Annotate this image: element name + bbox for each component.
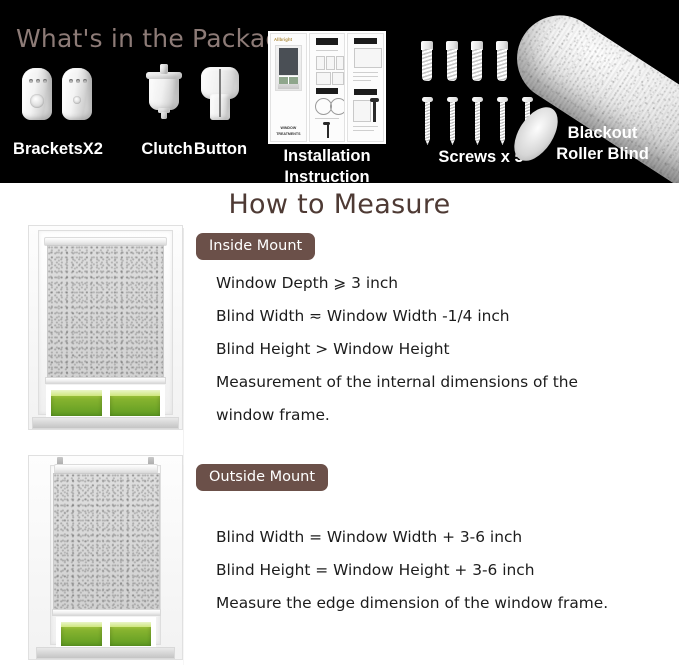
instruction-label-line1: Installation — [283, 147, 370, 165]
instruction-label: Installation Instruction — [262, 146, 392, 183]
brackets-label: BracketsX2 — [0, 140, 116, 159]
instruction-label-line2: Instruction — [284, 168, 369, 183]
clutch-icon — [149, 74, 179, 110]
window-pane — [49, 388, 104, 418]
outside-mount-window-illustration — [28, 455, 183, 660]
package-contents-panel: What's in the Package BracketsX2 — [0, 0, 679, 183]
window-sill — [32, 417, 179, 429]
inside-mount-spec-line: Blind Height > Window Height — [216, 340, 450, 358]
wall-anchor-icon — [421, 41, 433, 81]
screw-icon — [472, 97, 483, 145]
window-glass — [46, 385, 165, 421]
blind-fabric — [47, 245, 164, 379]
leaflet-panel-3 — [347, 33, 384, 142]
wall-anchor-icon — [446, 41, 458, 81]
inside-mount-window-illustration — [28, 225, 183, 430]
window-pane — [59, 620, 104, 648]
leaflet-panel-2 — [309, 33, 346, 142]
how-to-measure-title: How to Measure — [0, 189, 679, 220]
leaflet-panel-1: Allbright WINDOW TREATMENTS — [270, 33, 307, 142]
outside-mount-spec-line: Blind Width = Window Width + 3-6 inch — [216, 528, 522, 546]
window-glass — [56, 617, 156, 651]
leaflet-footer: WINDOW TREATMENTS — [271, 126, 306, 137]
blind-bottom-rail — [45, 377, 166, 384]
leaflet-footer-line1: WINDOW — [280, 126, 296, 130]
button-label: Button — [178, 140, 263, 159]
screw-icon — [422, 97, 433, 145]
leaflet-footer-line2: TREATMENTS — [276, 132, 300, 136]
window-pane — [108, 620, 153, 648]
screw-icon — [447, 97, 458, 145]
package-title: What's in the Package — [16, 24, 297, 53]
bracket-icon — [22, 68, 52, 120]
blind-bottom-rail — [52, 609, 161, 616]
inside-mount-spec-line: window frame. — [216, 406, 330, 424]
leaflet-heading-bar — [316, 38, 339, 45]
clutch-icon — [161, 112, 167, 119]
inside-mount-spec-line: Measurement of the internal dimensions o… — [216, 373, 578, 391]
instruction-leaflet-icon: Allbright WINDOW TREATMENTS — [268, 31, 386, 144]
outside-mount-spec-line: Measure the edge dimension of the window… — [216, 594, 608, 612]
section-divider — [183, 228, 184, 488]
bracket-icon — [62, 68, 92, 120]
section-divider — [183, 465, 184, 665]
inside-mount-spec-line: Blind Width ≂ Window Width -1/4 inch — [216, 307, 510, 325]
clutch-icon — [160, 64, 168, 74]
product-infographic: What's in the Package BracketsX2 — [0, 0, 679, 667]
inside-mount-badge: Inside Mount — [196, 233, 315, 260]
button-slot-icon — [219, 69, 221, 117]
outside-mount-spec-line: Blind Height = Window Height + 3-6 inch — [216, 561, 535, 579]
outside-mount-badge: Outside Mount — [196, 464, 328, 491]
rolled-blind-label-line1: Blackout — [568, 124, 638, 142]
rolled-blind-label-line2: Roller Blind — [556, 145, 649, 163]
screw-icon — [497, 97, 508, 145]
rolled-blind-label: Blackout Roller Blind — [530, 123, 675, 164]
inside-mount-spec-line: Window Depth ⩾ 3 inch — [216, 274, 398, 292]
leaflet-product-photo — [275, 45, 302, 91]
leaflet-brand: Allbright — [274, 37, 292, 42]
blind-fabric — [53, 473, 160, 611]
how-to-measure-panel: How to Measure Inside Mount Window Depth… — [0, 183, 679, 667]
wall-anchor-icon — [471, 41, 483, 81]
window-sill — [36, 647, 175, 659]
window-pane — [108, 388, 163, 418]
